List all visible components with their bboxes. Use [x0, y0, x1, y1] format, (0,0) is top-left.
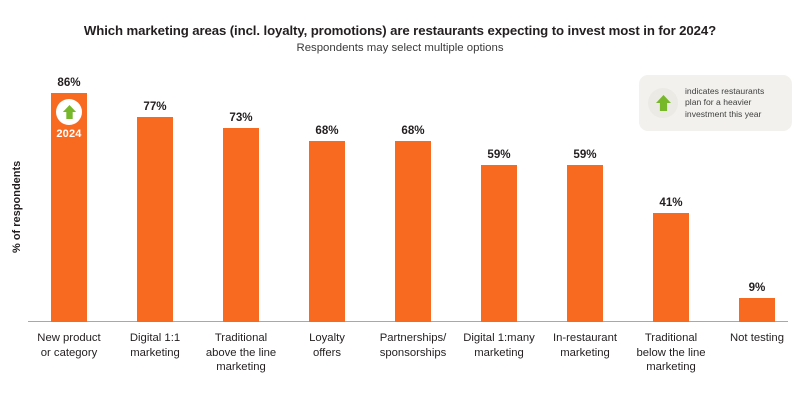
bar[interactable] [653, 213, 689, 322]
chart-title: Which marketing areas (incl. loyalty, pr… [0, 23, 800, 39]
bar-slot: 59% [456, 60, 542, 322]
x-axis-category-line: below the line [625, 346, 717, 361]
bar[interactable] [567, 165, 603, 322]
x-axis-category-line: or category [23, 346, 115, 361]
bar[interactable] [739, 298, 775, 322]
x-axis-category-line: Partnerships/ [367, 331, 459, 346]
bar-slot: 77% [112, 60, 198, 322]
bar-slot: 68% [284, 60, 370, 322]
x-axis-category-line: Digital 1:many [453, 331, 545, 346]
title-block: Which marketing areas (incl. loyalty, pr… [0, 23, 800, 56]
x-axis-category-label: Traditionalabove the linemarketing [195, 331, 287, 375]
x-axis-category-label: Partnerships/sponsorships [367, 331, 459, 360]
bar-slot: 73% [198, 60, 284, 322]
y-axis-label: % of respondents [8, 152, 26, 262]
x-axis-category-label: Digital 1:1marketing [109, 331, 201, 360]
bar-value-label: 41% [628, 196, 714, 209]
bar-value-label: 59% [542, 148, 628, 161]
legend-text-line: plan for a heavier [685, 97, 764, 109]
x-axis-category-line: sponsorships [367, 346, 459, 361]
x-axis-category-line: Traditional [195, 331, 287, 346]
bar-slot: 59% [542, 60, 628, 322]
arrow-up-icon [648, 88, 678, 118]
x-axis-category-line: marketing [195, 360, 287, 375]
bar-value-label: 77% [112, 100, 198, 113]
bar-value-label: 68% [370, 124, 456, 137]
bar-slot: 86%2024 [26, 60, 112, 322]
legend-text-line: indicates restaurants [685, 86, 764, 98]
x-axis-category-label: Traditionalbelow the linemarketing [625, 331, 717, 375]
bar[interactable] [51, 93, 87, 322]
x-axis-category-label: In-restaurantmarketing [539, 331, 631, 360]
x-axis-category-line: Digital 1:1 [109, 331, 201, 346]
x-axis-category-line: marketing [625, 360, 717, 375]
legend-text: indicates restaurantsplan for a heavieri… [685, 86, 764, 121]
x-axis-category-line: marketing [109, 346, 201, 361]
x-axis-category-line: Traditional [625, 331, 717, 346]
x-axis-category-label: New productor category [23, 331, 115, 360]
bar[interactable] [395, 141, 431, 322]
x-axis-labels: New productor categoryDigital 1:1marketi… [28, 331, 788, 391]
x-axis-category-line: offers [281, 346, 373, 361]
x-axis-category-line: In-restaurant [539, 331, 631, 346]
x-axis-category-label: Loyaltyoffers [281, 331, 373, 360]
chart-subtitle: Respondents may select multiple options [0, 41, 800, 56]
bar[interactable] [223, 128, 259, 322]
bar-slot: 68% [370, 60, 456, 322]
legend: indicates restaurantsplan for a heavieri… [639, 75, 792, 131]
bar[interactable] [309, 141, 345, 322]
legend-text-line: investment this year [685, 109, 764, 121]
x-axis-category-line: marketing [539, 346, 631, 361]
x-axis-category-label: Digital 1:manymarketing [453, 331, 545, 360]
bar-value-label: 73% [198, 111, 284, 124]
x-axis-category-label: Not testing [711, 331, 800, 346]
bar-value-label: 9% [714, 281, 800, 294]
x-axis-category-line: Not testing [711, 331, 800, 346]
x-axis-category-line: New product [23, 331, 115, 346]
bar[interactable] [481, 165, 517, 322]
bar-value-label: 68% [284, 124, 370, 137]
bar-chart: Which marketing areas (incl. loyalty, pr… [0, 0, 800, 400]
bar-value-label: 86% [26, 76, 112, 89]
x-axis-category-line: marketing [453, 346, 545, 361]
x-axis-category-line: Loyalty [281, 331, 373, 346]
x-axis-category-line: above the line [195, 346, 287, 361]
bar[interactable] [137, 117, 173, 322]
bar-value-label: 59% [456, 148, 542, 161]
